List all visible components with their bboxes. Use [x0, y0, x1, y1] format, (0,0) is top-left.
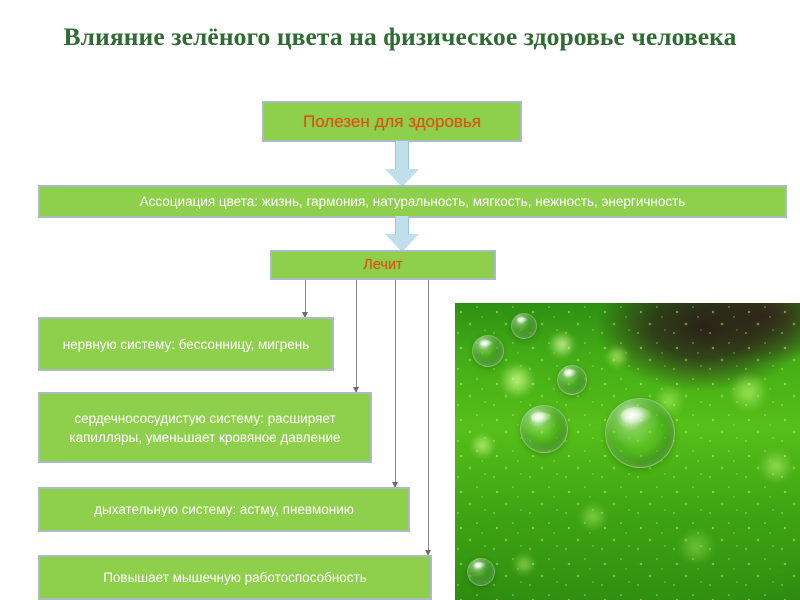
arrow-shaft [395, 141, 409, 169]
page-title: Влияние зелёного цвета на физическое здо… [0, 22, 800, 52]
connector-to-nervous-icon [305, 280, 306, 317]
connector-to-cardiovascular-icon [356, 280, 357, 392]
photo-green-moss-dew [455, 303, 800, 600]
flow-box-color-association-label: Ассоциация цвета: жизнь, гармония, натур… [46, 192, 779, 211]
flow-box-muscle-performance-label: Повышает мышечную работоспособность [46, 568, 424, 587]
connector-to-muscle-icon [428, 280, 429, 555]
flow-box-treats[interactable]: Лечит [270, 250, 496, 280]
slide-canvas: Влияние зелёного цвета на физическое здо… [0, 0, 800, 600]
flow-box-useful-for-health-label: Полезен для здоровья [270, 112, 514, 131]
flow-box-nervous-system-label: нервную систему: бессонницу, мигрень [46, 335, 326, 354]
flow-box-cardiovascular-system-label: сердечнососудистую систему: расширяет ка… [46, 409, 364, 447]
flow-box-nervous-system[interactable]: нервную систему: бессонницу, мигрень [38, 317, 334, 371]
arrow-useful-to-association-icon [385, 141, 419, 187]
flow-box-color-association[interactable]: Ассоциация цвета: жизнь, гармония, натур… [38, 185, 787, 218]
arrow-shaft [395, 216, 409, 234]
flow-box-respiratory-system-label: дыхательную систему: астму, пневмонию [46, 500, 402, 519]
connector-to-respiratory-icon [395, 280, 396, 487]
flow-box-muscle-performance[interactable]: Повышает мышечную работоспособность [38, 555, 432, 600]
flow-box-treats-label: Лечит [278, 256, 488, 275]
flow-box-respiratory-system[interactable]: дыхательную систему: астму, пневмонию [38, 487, 410, 532]
arrow-association-to-treats-icon [385, 216, 419, 252]
flow-box-useful-for-health[interactable]: Полезен для здоровья [262, 101, 522, 142]
flow-box-cardiovascular-system[interactable]: сердечнососудистую систему: расширяет ка… [38, 392, 372, 463]
photo-vignette-layer [455, 303, 800, 600]
